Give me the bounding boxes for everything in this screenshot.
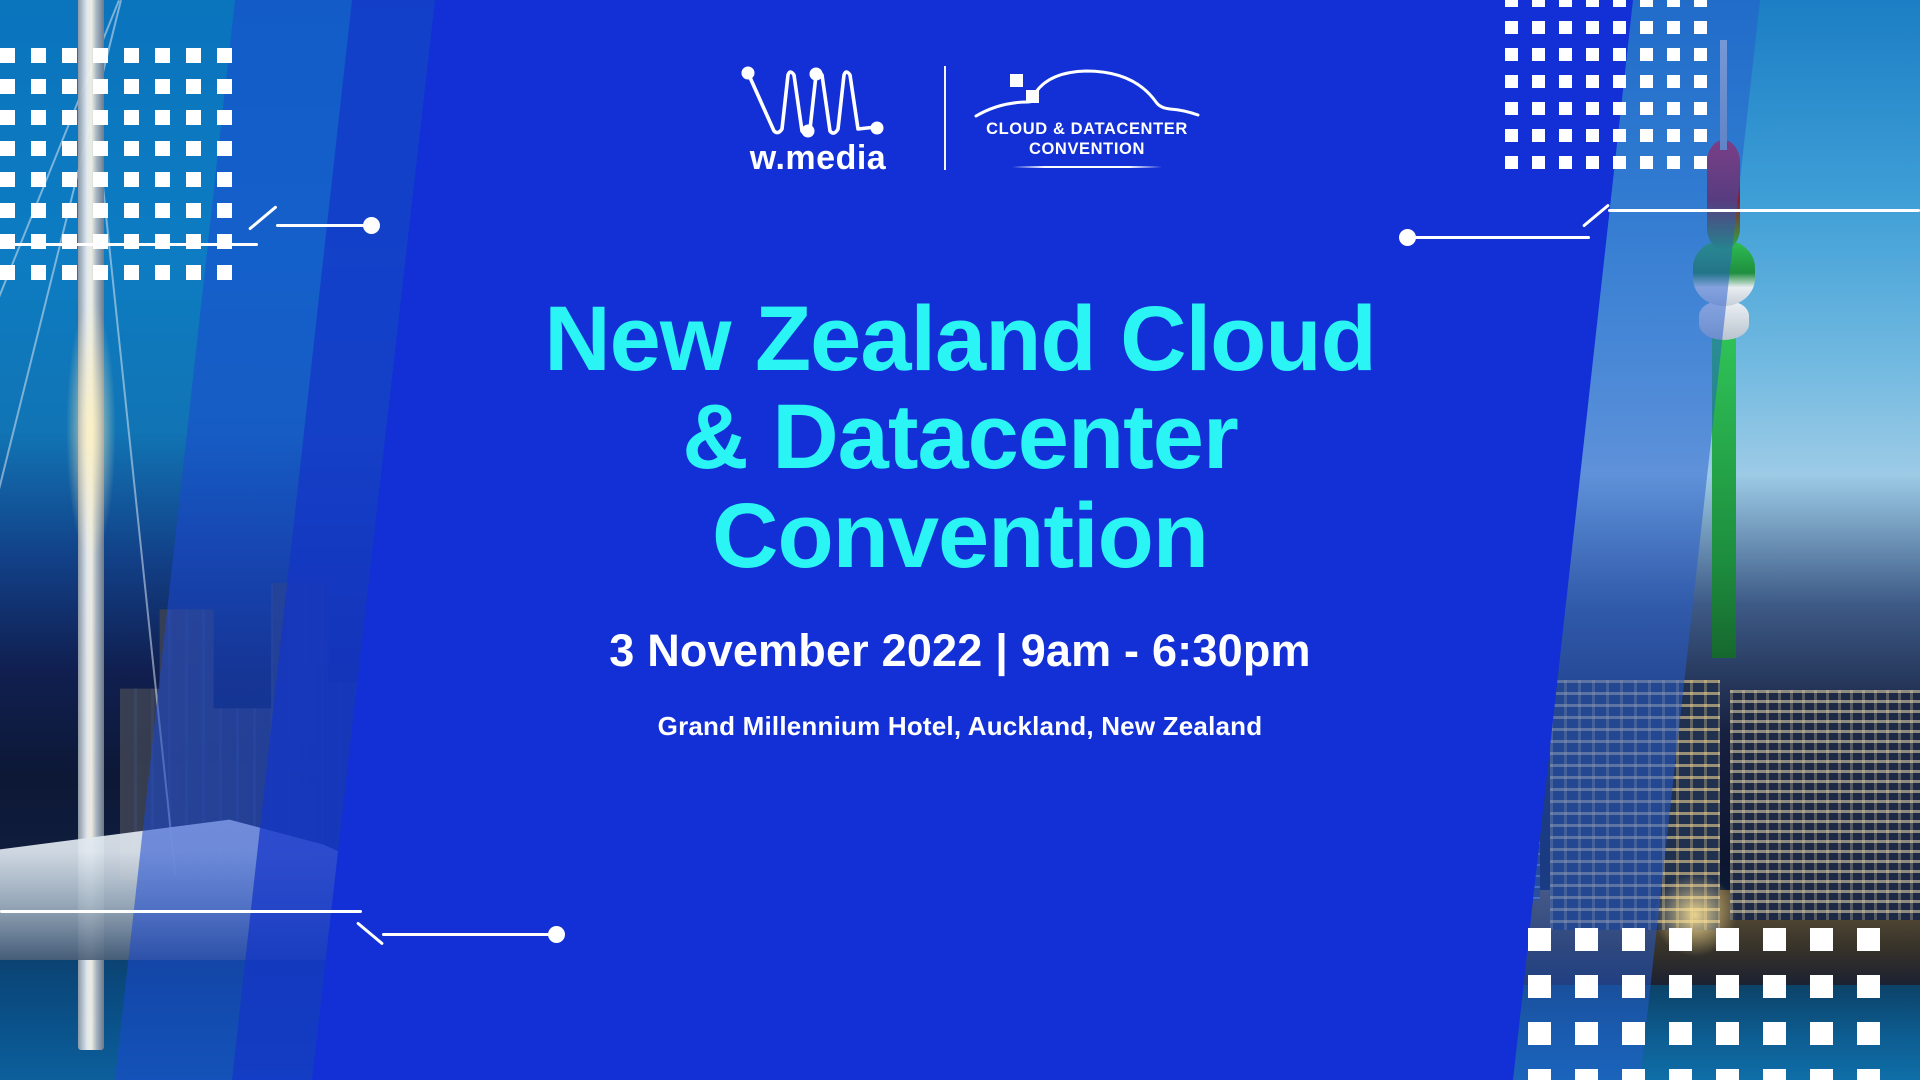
grid-dot [1528,1069,1551,1080]
grid-dot [1810,928,1833,951]
grid-dot [1716,1022,1739,1045]
grid-dot [155,234,170,249]
grid-dot [1810,975,1833,998]
grid-dot [1857,1069,1880,1080]
event-banner: w.media CLOUD & DATACENTER CONVENTION Ne… [0,0,1920,1080]
grid-dot [124,234,139,249]
grid-dot [1622,975,1645,998]
grid-dot [1810,1022,1833,1045]
grid-dot [93,203,108,218]
grid-dot [1667,0,1680,7]
grid-dot [1528,975,1551,998]
grid-dot [1505,21,1518,34]
grid-dot [1586,0,1599,7]
grid-dot [186,203,201,218]
grid-dot [1622,1069,1645,1080]
grid-dot [1669,1022,1692,1045]
grid-dot [1575,1022,1598,1045]
logo-lockup: w.media CLOUD & DATACENTER CONVENTION [0,58,1920,178]
cloud-arc-icon [974,68,1200,120]
grid-dot [1857,1022,1880,1045]
grid-dot [31,265,46,280]
title-line-3: Convention [712,485,1208,587]
cdc-line-2: CONVENTION [1029,140,1145,159]
grid-dot [1716,928,1739,951]
zigzag-wave-icon [738,61,898,139]
wmedia-wordmark: w.media [750,141,886,175]
grid-dot [186,265,201,280]
grid-dot [124,203,139,218]
grid-dot [217,234,232,249]
grid-dot [1528,928,1551,951]
grid-dot [1716,1069,1739,1080]
grid-dot [1575,975,1598,998]
grid-dot [155,265,170,280]
grid-dot [31,203,46,218]
grid-dot [1528,1022,1551,1045]
cdc-underline [1012,166,1162,168]
grid-dot [1716,975,1739,998]
grid-dot [1575,1069,1598,1080]
grid-dot [1559,21,1572,34]
grid-dot [0,265,15,280]
pixel-square [1026,90,1039,103]
grid-dot [1763,1022,1786,1045]
grid-dot [186,234,201,249]
grid-dot [0,234,15,249]
grid-dot [1669,975,1692,998]
grid-dot [93,234,108,249]
grid-dot [1669,1069,1692,1080]
grid-dot [1575,928,1598,951]
grid-dot [1622,928,1645,951]
grid-dot [1586,21,1599,34]
event-datetime: 3 November 2022 | 9am - 6:30pm [609,625,1310,677]
grid-dot [124,265,139,280]
pixel-square [1010,74,1023,87]
grid-dot [1694,0,1707,7]
event-details: New Zealand Cloud & Datacenter Conventio… [0,290,1920,742]
connector-node [548,926,565,943]
page-title: New Zealand Cloud & Datacenter Conventio… [544,290,1376,585]
logo-divider [944,66,946,170]
grid-dot [217,203,232,218]
grid-dot [155,203,170,218]
grid-dot [1505,0,1518,7]
wmedia-logo: w.media [718,61,918,175]
grid-dot [1857,928,1880,951]
grid-dot [1669,928,1692,951]
grid-dot [93,265,108,280]
grid-dot [1667,21,1680,34]
grid-dot [31,234,46,249]
grid-dot [1532,21,1545,34]
grid-dot [62,234,77,249]
grid-dot [1640,21,1653,34]
title-line-1: New Zealand Cloud [544,288,1376,390]
grid-dot [1810,1069,1833,1080]
grid-dot [217,265,232,280]
grid-dot [1559,0,1572,7]
grid-dot [1763,975,1786,998]
grid-dot [1622,1022,1645,1045]
event-venue: Grand Millennium Hotel, Auckland, New Ze… [658,711,1263,742]
dot-grid-bottom-right [1528,928,1904,1080]
title-line-2: & Datacenter [682,386,1238,488]
grid-dot [1857,975,1880,998]
connector-node [363,217,380,234]
grid-dot [1613,0,1626,7]
grid-dot [1694,21,1707,34]
grid-dot [62,203,77,218]
cloud-datacenter-convention-logo: CLOUD & DATACENTER CONVENTION [972,68,1202,168]
grid-dot [1763,1069,1786,1080]
grid-dot [1763,928,1786,951]
cdc-line-1: CLOUD & DATACENTER [986,120,1188,139]
grid-dot [1613,21,1626,34]
grid-dot [0,203,15,218]
grid-dot [1532,0,1545,7]
grid-dot [1640,0,1653,7]
grid-dot [62,265,77,280]
